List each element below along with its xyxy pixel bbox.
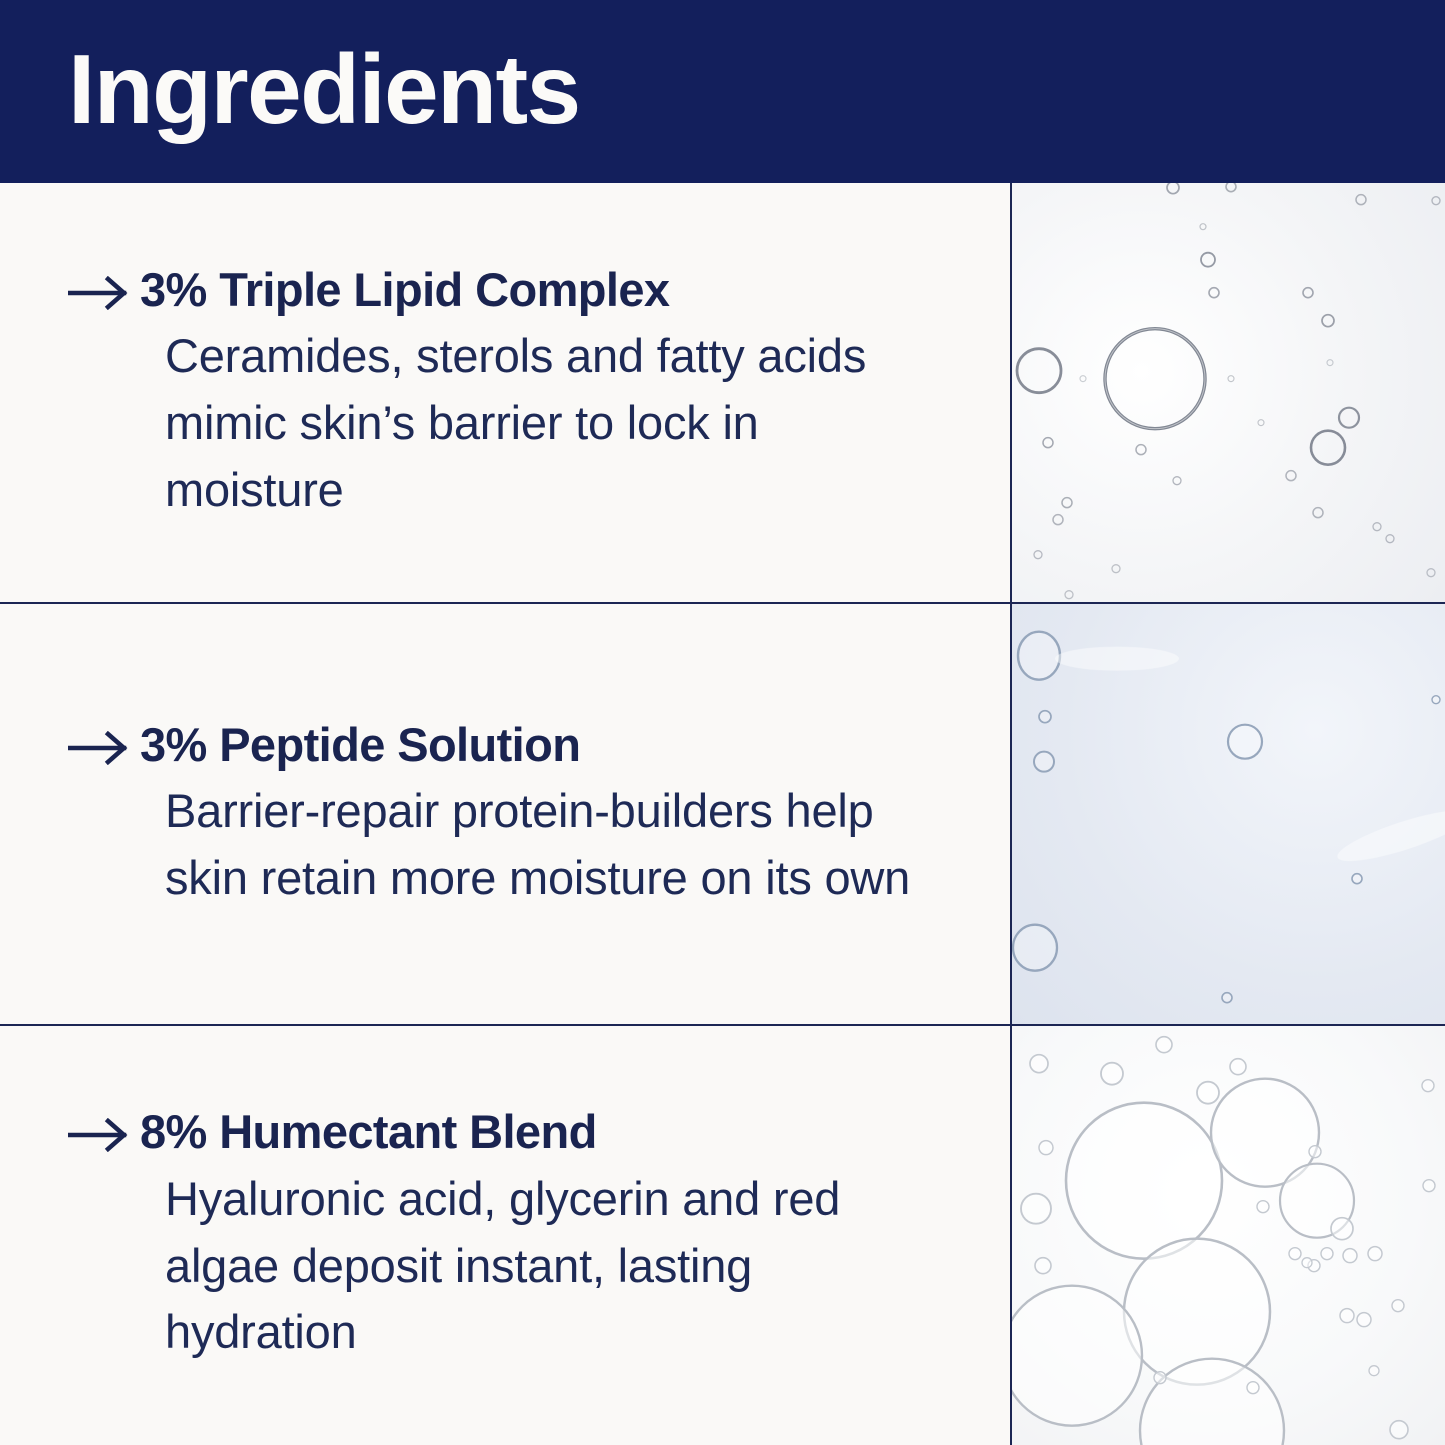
ingredient-description: Hyaluronic acid, glycerin and red algae … <box>165 1166 925 1366</box>
ingredient-text-column: 3% Triple Lipid Complex Ceramides, stero… <box>0 183 1012 602</box>
clear-gel-large-bubbles-macro <box>1012 1026 1445 1445</box>
blue-gel-texture-droplets-macro <box>1012 604 1445 1023</box>
ingredient-image-column <box>1012 1026 1445 1445</box>
ingredient-heading: 3% Triple Lipid Complex <box>68 262 950 317</box>
ingredient-description: Barrier-repair protein-builders help ski… <box>165 778 925 911</box>
ingredient-title: 3% Triple Lipid Complex <box>140 262 669 317</box>
arrow-right-icon <box>68 731 140 765</box>
page-title: Ingredients <box>68 40 580 138</box>
ingredient-text-column: 8% Humectant Blend Hyaluronic acid, glyc… <box>0 1026 1012 1445</box>
ingredient-description: Ceramides, sterols and fatty acids mimic… <box>165 323 925 523</box>
serum-texture-bubbles-macro <box>1012 183 1445 602</box>
ingredient-heading: 8% Humectant Blend <box>68 1104 950 1159</box>
ingredient-image-column <box>1012 183 1445 602</box>
ingredient-title: 3% Peptide Solution <box>140 717 580 772</box>
ingredient-list: 3% Triple Lipid Complex Ceramides, stero… <box>0 183 1445 1445</box>
arrow-right-icon <box>68 1118 140 1152</box>
ingredient-row: 8% Humectant Blend Hyaluronic acid, glyc… <box>0 1024 1445 1445</box>
ingredient-heading: 3% Peptide Solution <box>68 717 950 772</box>
ingredient-title: 8% Humectant Blend <box>140 1104 597 1159</box>
page-header: Ingredients <box>0 0 1445 183</box>
ingredient-row: 3% Triple Lipid Complex Ceramides, stero… <box>0 183 1445 602</box>
ingredient-image-column <box>1012 604 1445 1023</box>
ingredient-row: 3% Peptide Solution Barrier-repair prote… <box>0 602 1445 1023</box>
ingredient-text-column: 3% Peptide Solution Barrier-repair prote… <box>0 604 1012 1023</box>
arrow-right-icon <box>68 276 140 310</box>
ingredients-page: Ingredients 3% Triple Lipid Complex Cera… <box>0 0 1445 1445</box>
